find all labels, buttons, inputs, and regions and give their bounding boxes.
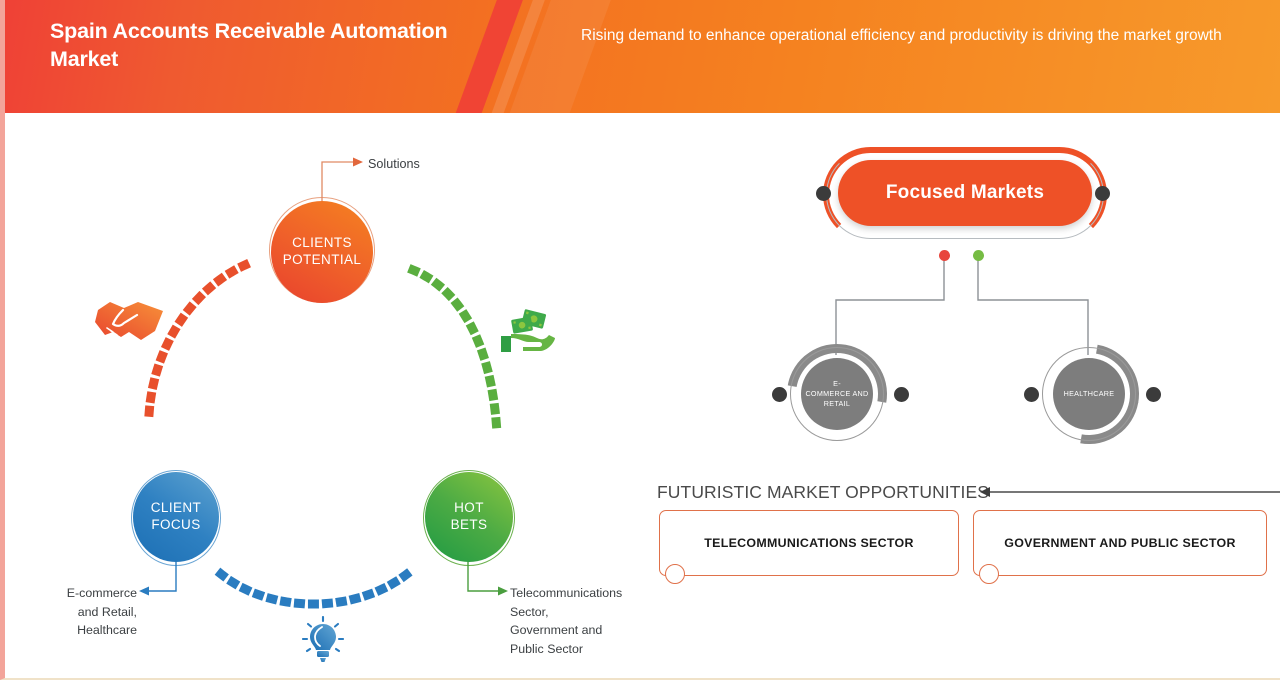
page-title: Spain Accounts Receivable Automation Mar… <box>50 17 480 74</box>
callout-hot-bets: Telecommunications Sector, Government an… <box>510 584 660 658</box>
healthcare-knob-right <box>1146 387 1161 402</box>
focused-markets-title: Focused Markets <box>886 182 1044 204</box>
red-indicator-dot <box>939 250 950 261</box>
sector-label-line2: HEALTHCARE <box>1064 389 1115 399</box>
sector-core: HEALTHCARE <box>1053 358 1125 430</box>
opportunity-marker-1 <box>665 564 685 584</box>
ecommerce-knob-left <box>772 387 787 402</box>
header-banner: Spain Accounts Receivable Automation Mar… <box>5 0 1280 113</box>
focused-markets-knob-left <box>816 186 831 201</box>
hot-bets-callout-line2: Sector, <box>510 603 660 622</box>
opportunity-label: GOVERNMENT AND PUBLIC SECTOR <box>1004 536 1235 550</box>
futuristic-title: FUTURISTIC MARKET OPPORTUNITIES <box>657 482 989 503</box>
hot-bets-line2: BETS <box>451 517 488 534</box>
lightbulb-icon <box>302 616 344 664</box>
hot-bets-line1: HOT <box>451 500 488 517</box>
opportunity-label: TELECOMMUNICATIONS SECTOR <box>704 536 913 550</box>
node-hot-bets[interactable]: HOT BETS <box>425 472 513 562</box>
focused-markets-pill[interactable]: Focused Markets <box>838 160 1092 226</box>
client-focus-line1: CLIENT <box>151 500 201 517</box>
node-clients-potential[interactable]: CLIENTS POTENTIAL <box>271 201 373 303</box>
handshake-icon <box>93 296 169 348</box>
healthcare-knob-left <box>1024 387 1039 402</box>
money-in-hand-icon <box>499 308 555 356</box>
sector-circle-e-commerce-and-retail[interactable]: E- COMMERCE AND RETAIL <box>787 344 887 444</box>
hot-bets-callout-line1: Telecommunications <box>510 584 660 603</box>
client-focus-callout-line2: and Retail, <box>5 603 137 622</box>
green-indicator-dot <box>973 250 984 261</box>
infographic-root: Spain Accounts Receivable Automation Mar… <box>0 0 1280 680</box>
client-focus-connector <box>131 560 191 598</box>
opportunity-telecommunications-sector[interactable]: TELECOMMUNICATIONS SECTOR <box>659 510 959 576</box>
dotted-arc-blue <box>215 568 415 618</box>
opportunity-government-and-public-sector[interactable]: GOVERNMENT AND PUBLIC SECTOR <box>973 510 1267 576</box>
opportunity-marker-2 <box>979 564 999 584</box>
focused-markets-knob-right <box>1095 186 1110 201</box>
ecommerce-knob-right <box>894 387 909 402</box>
client-focus-line2: FOCUS <box>151 517 201 534</box>
hot-bets-callout-line3: Government and <box>510 621 660 640</box>
sector-circle-healthcare[interactable]: HEALTHCARE <box>1039 344 1139 444</box>
sector-label-line2: COMMERCE AND <box>805 389 868 399</box>
sector-core: E- COMMERCE AND RETAIL <box>801 358 873 430</box>
sector-label-line1: E- <box>805 379 868 389</box>
page-subtitle: Rising demand to enhance operational eff… <box>581 24 1251 47</box>
sector-label-line3: RETAIL <box>805 399 868 409</box>
hot-bets-callout-line4: Public Sector <box>510 640 660 659</box>
client-focus-callout-line1: E-commerce <box>5 584 137 603</box>
clients-potential-line1: CLIENTS <box>283 235 362 252</box>
futuristic-arrow-connector <box>980 483 1280 503</box>
node-client-focus[interactable]: CLIENT FOCUS <box>133 472 219 562</box>
callout-solutions: Solutions <box>368 155 420 174</box>
client-focus-callout-line3: Healthcare <box>5 621 137 640</box>
clients-potential-line2: POTENTIAL <box>283 252 362 269</box>
callout-client-focus: E-commerce and Retail, Healthcare <box>5 584 137 640</box>
